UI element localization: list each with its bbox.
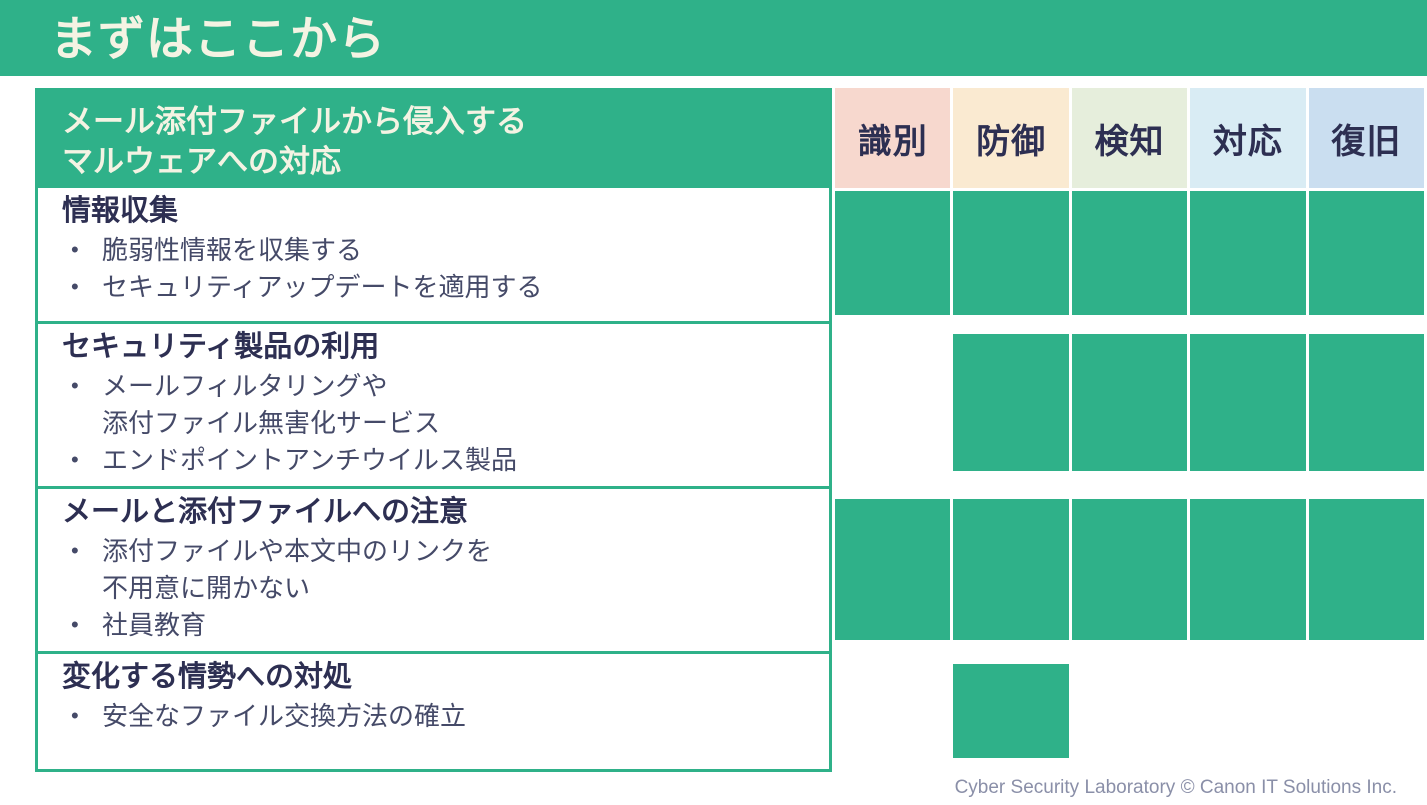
list-item: • セキュリティアップデートを適用する xyxy=(62,269,829,306)
list-item-line: 脆弱性情報を収集する xyxy=(102,232,829,269)
matrix-cell xyxy=(953,191,1068,315)
matrix-cell xyxy=(1190,334,1305,471)
list-item: • 社員教育 xyxy=(62,607,829,644)
matrix-column-header-protect: 防御 xyxy=(953,88,1068,188)
list-item-line: 安全なファイル交換方法の確立 xyxy=(102,698,829,735)
measures-panel-header-line1: メール添付ファイルから侵入する xyxy=(62,102,829,142)
bullet-dot-icon: • xyxy=(62,232,102,268)
measures-row-list: 情報収集 • 脆弱性情報を収集する • セキュリティアップデートを適用する セキ… xyxy=(38,188,829,772)
matrix-cell xyxy=(1309,654,1424,775)
matrix-row xyxy=(835,489,1424,654)
measure-row: セキュリティ製品の利用 • メールフィルタリングや 添付ファイル無害化サービス … xyxy=(38,321,829,486)
list-item: • 脆弱性情報を収集する xyxy=(62,232,829,269)
matrix-cell xyxy=(1190,654,1305,775)
measure-row-title: メールと添付ファイルへの注意 xyxy=(62,495,829,530)
list-item-line: 添付ファイルや本文中のリンクを xyxy=(102,533,829,570)
measure-row: 情報収集 • 脆弱性情報を収集する • セキュリティアップデートを適用する xyxy=(38,188,829,321)
footer-credit: Cyber Security Laboratory © Canon IT Sol… xyxy=(955,777,1397,799)
coverage-matrix-body xyxy=(835,188,1424,775)
matrix-cell xyxy=(953,334,1068,471)
matrix-column-header-recover: 復旧 xyxy=(1309,88,1424,188)
matrix-column-header-detect: 検知 xyxy=(1072,88,1187,188)
coverage-matrix-header-row: 識別 防御 検知 対応 復旧 xyxy=(835,88,1424,188)
matrix-row xyxy=(835,191,1424,324)
matrix-cell xyxy=(1190,499,1305,640)
matrix-cell xyxy=(1309,334,1424,471)
matrix-cell xyxy=(835,191,950,315)
list-item: • 安全なファイル交換方法の確立 xyxy=(62,698,829,735)
matrix-cell xyxy=(1072,334,1187,471)
matrix-column-header-identify: 識別 xyxy=(835,88,950,188)
matrix-cell xyxy=(1190,191,1305,315)
list-item: • エンドポイントアンチウイルス製品 xyxy=(62,442,829,479)
list-item-text: エンドポイントアンチウイルス製品 xyxy=(102,442,829,479)
matrix-cell xyxy=(835,654,950,775)
slide: まずはここから メール添付ファイルから侵入する マルウェアへの対応 情報収集 •… xyxy=(0,0,1427,805)
matrix-row xyxy=(835,654,1424,775)
list-item-line: 不用意に開かない xyxy=(102,570,829,607)
list-item-text: 脆弱性情報を収集する xyxy=(102,232,829,269)
list-item-line: エンドポイントアンチウイルス製品 xyxy=(102,442,829,479)
measures-panel-header: メール添付ファイルから侵入する マルウェアへの対応 xyxy=(38,91,829,188)
list-item-line: 社員教育 xyxy=(102,607,829,644)
measure-row-title: 情報収集 xyxy=(62,194,829,229)
list-item-text: セキュリティアップデートを適用する xyxy=(102,269,829,306)
measure-row-title: セキュリティ製品の利用 xyxy=(62,330,829,365)
list-item: • 添付ファイルや本文中のリンクを 不用意に開かない xyxy=(62,533,829,607)
list-item: • メールフィルタリングや 添付ファイル無害化サービス xyxy=(62,368,829,442)
bullet-dot-icon: • xyxy=(62,607,102,643)
matrix-row xyxy=(835,324,1424,489)
list-item-text: メールフィルタリングや 添付ファイル無害化サービス xyxy=(102,368,829,442)
measures-panel: メール添付ファイルから侵入する マルウェアへの対応 情報収集 • 脆弱性情報を収… xyxy=(35,88,832,772)
list-item-text: 安全なファイル交換方法の確立 xyxy=(102,698,829,735)
measures-panel-header-line2: マルウェアへの対応 xyxy=(62,142,829,182)
page-title: まずはここから xyxy=(50,15,386,62)
matrix-cell xyxy=(835,499,950,640)
bullet-dot-icon: • xyxy=(62,533,102,569)
bullet-dot-icon: • xyxy=(62,442,102,478)
measure-row-title: 変化する情勢への対処 xyxy=(62,660,829,695)
matrix-cell xyxy=(1309,191,1424,315)
matrix-cell xyxy=(1309,499,1424,640)
measure-row: 変化する情勢への対処 • 安全なファイル交換方法の確立 xyxy=(38,651,829,772)
bullet-dot-icon: • xyxy=(62,269,102,305)
list-item-text: 社員教育 xyxy=(102,607,829,644)
measure-row: メールと添付ファイルへの注意 • 添付ファイルや本文中のリンクを 不用意に開かな… xyxy=(38,486,829,651)
list-item-line: メールフィルタリングや xyxy=(102,368,829,405)
list-item-text: 添付ファイルや本文中のリンクを 不用意に開かない xyxy=(102,533,829,607)
bullet-dot-icon: • xyxy=(62,368,102,404)
list-item-line: セキュリティアップデートを適用する xyxy=(102,269,829,306)
list-item-line: 添付ファイル無害化サービス xyxy=(102,405,829,442)
matrix-cell xyxy=(1072,654,1187,775)
matrix-cell xyxy=(953,664,1068,758)
bullet-dot-icon: • xyxy=(62,698,102,734)
matrix-cell xyxy=(835,324,950,489)
slide-title-bar: まずはここから xyxy=(0,0,1427,76)
matrix-cell xyxy=(1072,499,1187,640)
matrix-cell xyxy=(953,499,1068,640)
matrix-column-header-respond: 対応 xyxy=(1190,88,1305,188)
matrix-cell xyxy=(1072,191,1187,315)
coverage-matrix: 識別 防御 検知 対応 復旧 xyxy=(835,88,1424,772)
